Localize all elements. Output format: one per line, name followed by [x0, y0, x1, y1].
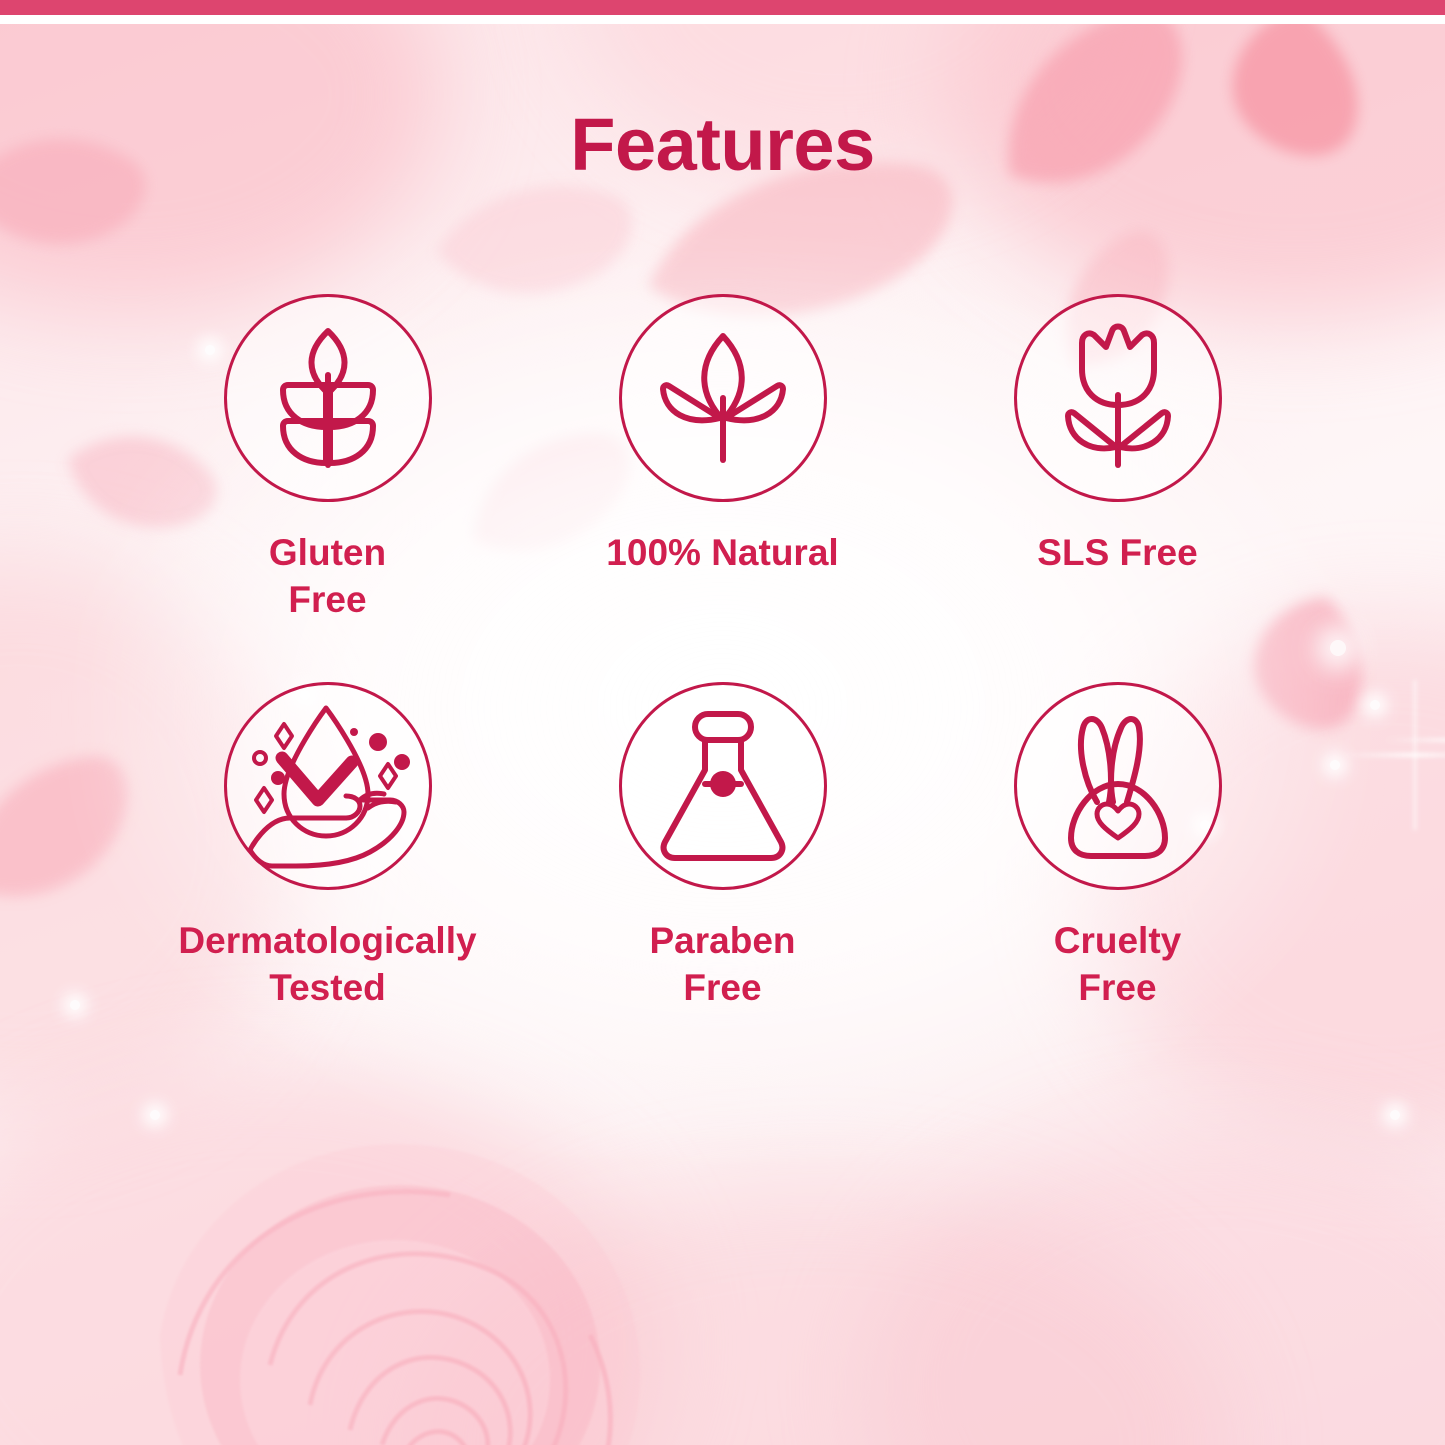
bunny-heart-icon	[1014, 682, 1222, 890]
page-title: Features	[0, 108, 1445, 182]
feature-item-dermatologically-tested[interactable]: Dermatologically Tested	[130, 682, 525, 1012]
feature-item-sls-free[interactable]: SLS Free	[920, 294, 1315, 624]
flask-icon	[619, 682, 827, 890]
feature-item-gluten-free[interactable]: Gluten Free	[130, 294, 525, 624]
feature-label: Cruelty Free	[1054, 917, 1181, 1012]
features-panel: Features	[0, 0, 1445, 1445]
feature-item-cruelty-free[interactable]: Cruelty Free	[920, 682, 1315, 1012]
wheat-icon	[224, 294, 432, 502]
leaf-plant-icon	[619, 294, 827, 502]
feature-item-natural[interactable]: 100% Natural	[525, 294, 920, 624]
feature-label: Dermatologically Tested	[178, 917, 476, 1012]
top-white-gap	[0, 15, 1445, 24]
feature-item-paraben-free[interactable]: Paraben Free	[525, 682, 920, 1012]
feature-label: Paraben Free	[649, 917, 795, 1012]
feature-label: Gluten Free	[269, 529, 386, 624]
tulip-icon	[1014, 294, 1222, 502]
top-accent-bar	[0, 0, 1445, 15]
droplet-check-hand-icon	[224, 682, 432, 890]
content-area: Features	[0, 0, 1445, 1445]
feature-label: 100% Natural	[606, 529, 838, 576]
features-grid: Gluten Free 100% Natural	[0, 294, 1445, 1011]
feature-label: SLS Free	[1037, 529, 1197, 576]
